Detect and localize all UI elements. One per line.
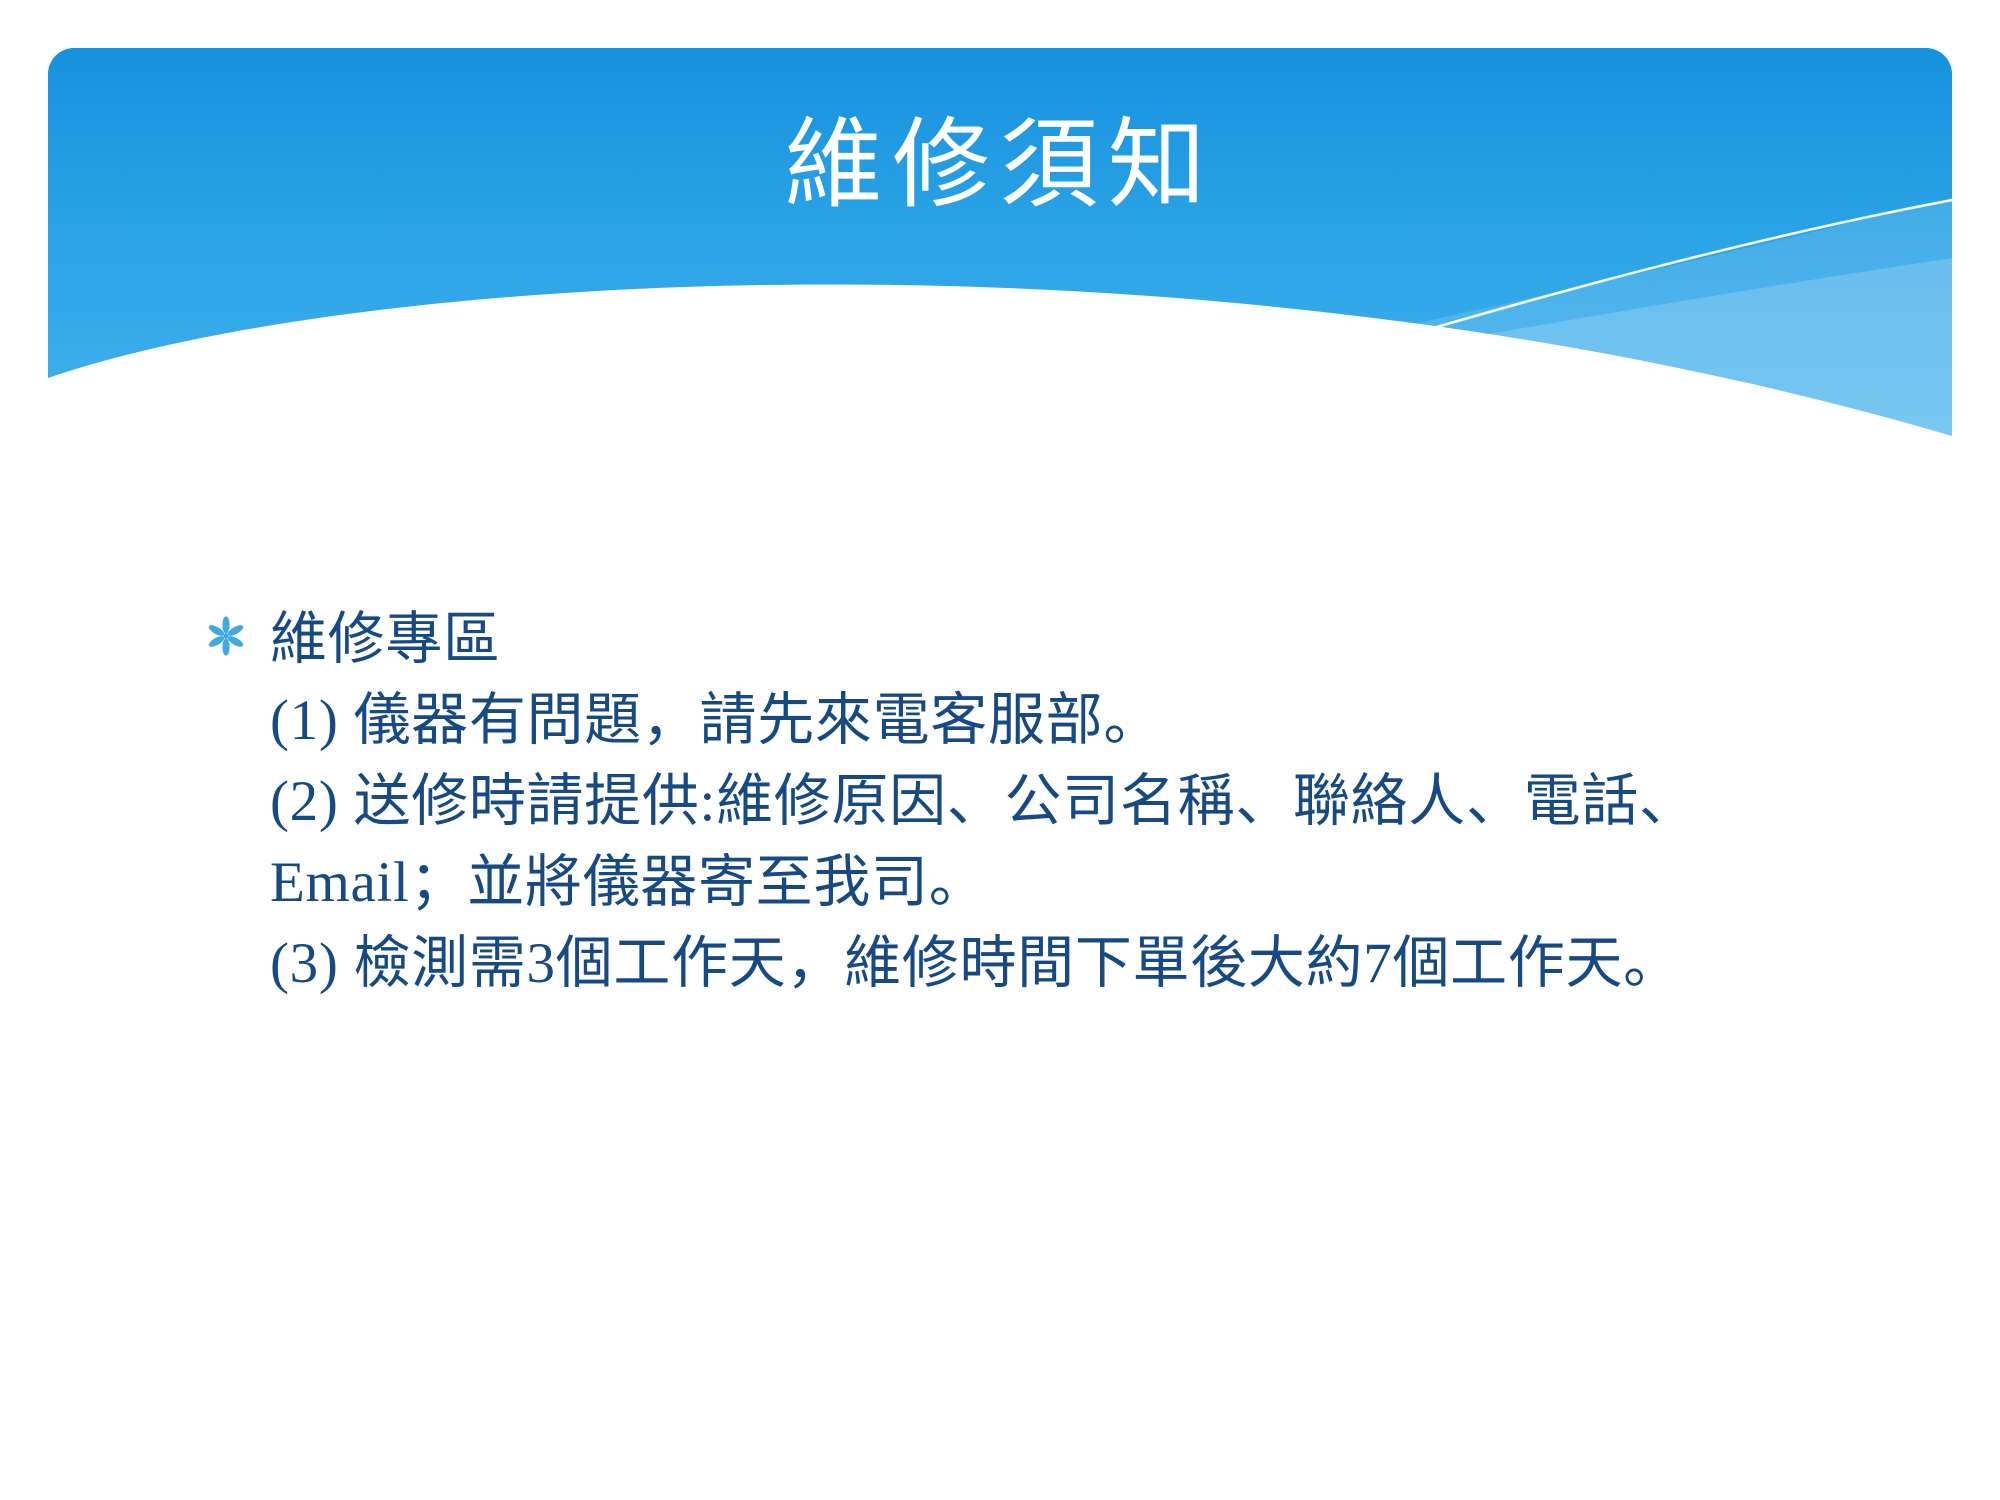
slide: 維修須知: [0, 0, 2000, 1500]
list-item: 維修專區 (1) 儀器有問題，請先來電客服部。 (2) 送修時請提供:維修原因、…: [200, 600, 1800, 1005]
page-title: 維修須知: [784, 110, 1215, 223]
bullet-line-3: (2) 送修時請提供:維修原因、公司名稱、聯絡人、電話、Email；並將儀器寄至…: [270, 762, 1800, 924]
title-block: 維修須知: [48, 110, 1952, 223]
bullet-line-4: (3) 檢測需3個工作天，維修時間下單後大約7個工作天。: [270, 924, 1800, 1005]
bullet-line-1: 維修專區: [270, 600, 1800, 681]
body-content: 維修專區 (1) 儀器有問題，請先來電客服部。 (2) 送修時請提供:維修原因、…: [200, 600, 1800, 1005]
asterisk-bullet-icon: [204, 614, 248, 658]
bullet-line-2: (1) 儀器有問題，請先來電客服部。: [270, 681, 1800, 762]
